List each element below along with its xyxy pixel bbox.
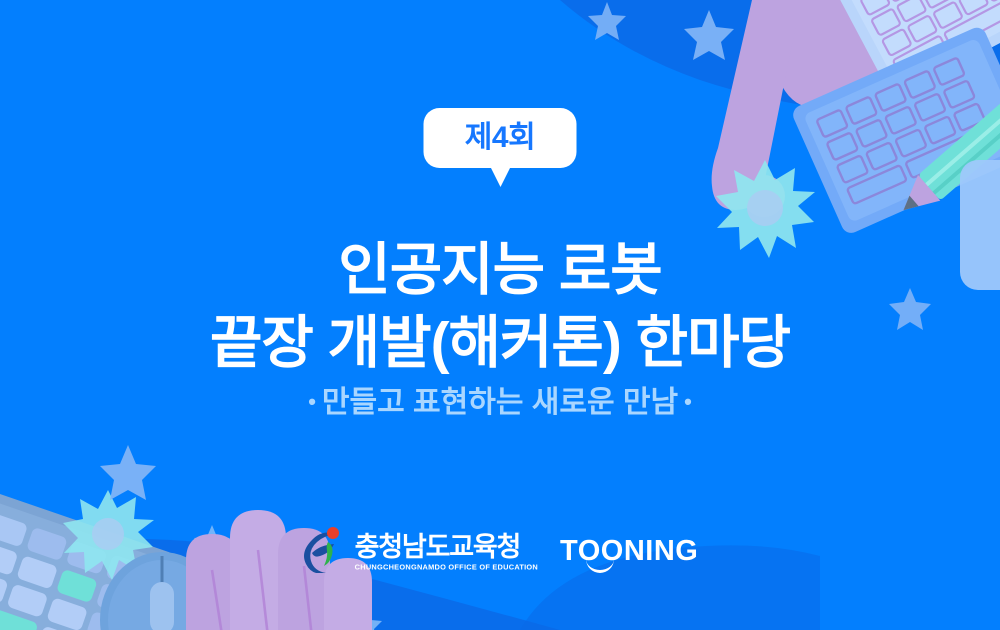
edition-badge-label: 제4회 bbox=[465, 123, 535, 153]
tooning-smile-icon bbox=[586, 558, 614, 573]
page-subtitle: •만들고 표현하는 새로운 만남• bbox=[0, 385, 1000, 421]
cne-text-block: 충청남도교육청 CHUNGCHEONGNAMDO OFFICE OF EDUCA… bbox=[355, 533, 538, 571]
logo-row: 충청남도교육청 CHUNGCHEONGNAMDO OFFICE OF EDUCA… bbox=[0, 525, 1000, 578]
page-title-line-2: 끝장 개발(해커톤) 한마당 bbox=[0, 307, 1000, 380]
cne-emblem-icon bbox=[302, 525, 348, 578]
tooning-wordmark: TOONING bbox=[560, 537, 698, 566]
page-title-line-1: 인공지능 로봇 bbox=[0, 234, 1000, 307]
subtitle-right-dot: • bbox=[678, 389, 698, 414]
tooning-logo: TOONING bbox=[560, 537, 698, 566]
edition-badge: 제4회 bbox=[424, 108, 577, 187]
poster-canvas: 제4회 인공지능 로봇 끝장 개발(해커톤) 한마당 •만들고 표현하는 새로운… bbox=[0, 0, 1000, 630]
edition-badge-bubble: 제4회 bbox=[424, 108, 577, 168]
subtitle-text: 만들고 표현하는 새로운 만남 bbox=[322, 386, 678, 419]
cne-name-korean: 충청남도교육청 bbox=[355, 533, 520, 561]
poster-content: 제4회 인공지능 로봇 끝장 개발(해커톤) 한마당 •만들고 표현하는 새로운… bbox=[0, 0, 1000, 630]
page-title: 인공지능 로봇 끝장 개발(해커톤) 한마당 bbox=[0, 234, 1000, 380]
edition-badge-tail bbox=[490, 167, 510, 187]
subtitle-left-dot: • bbox=[302, 389, 322, 414]
cne-logo: 충청남도교육청 CHUNGCHEONGNAMDO OFFICE OF EDUCA… bbox=[302, 525, 538, 578]
cne-name-english: CHUNGCHEONGNAMDO OFFICE OF EDUCATION bbox=[355, 563, 538, 571]
